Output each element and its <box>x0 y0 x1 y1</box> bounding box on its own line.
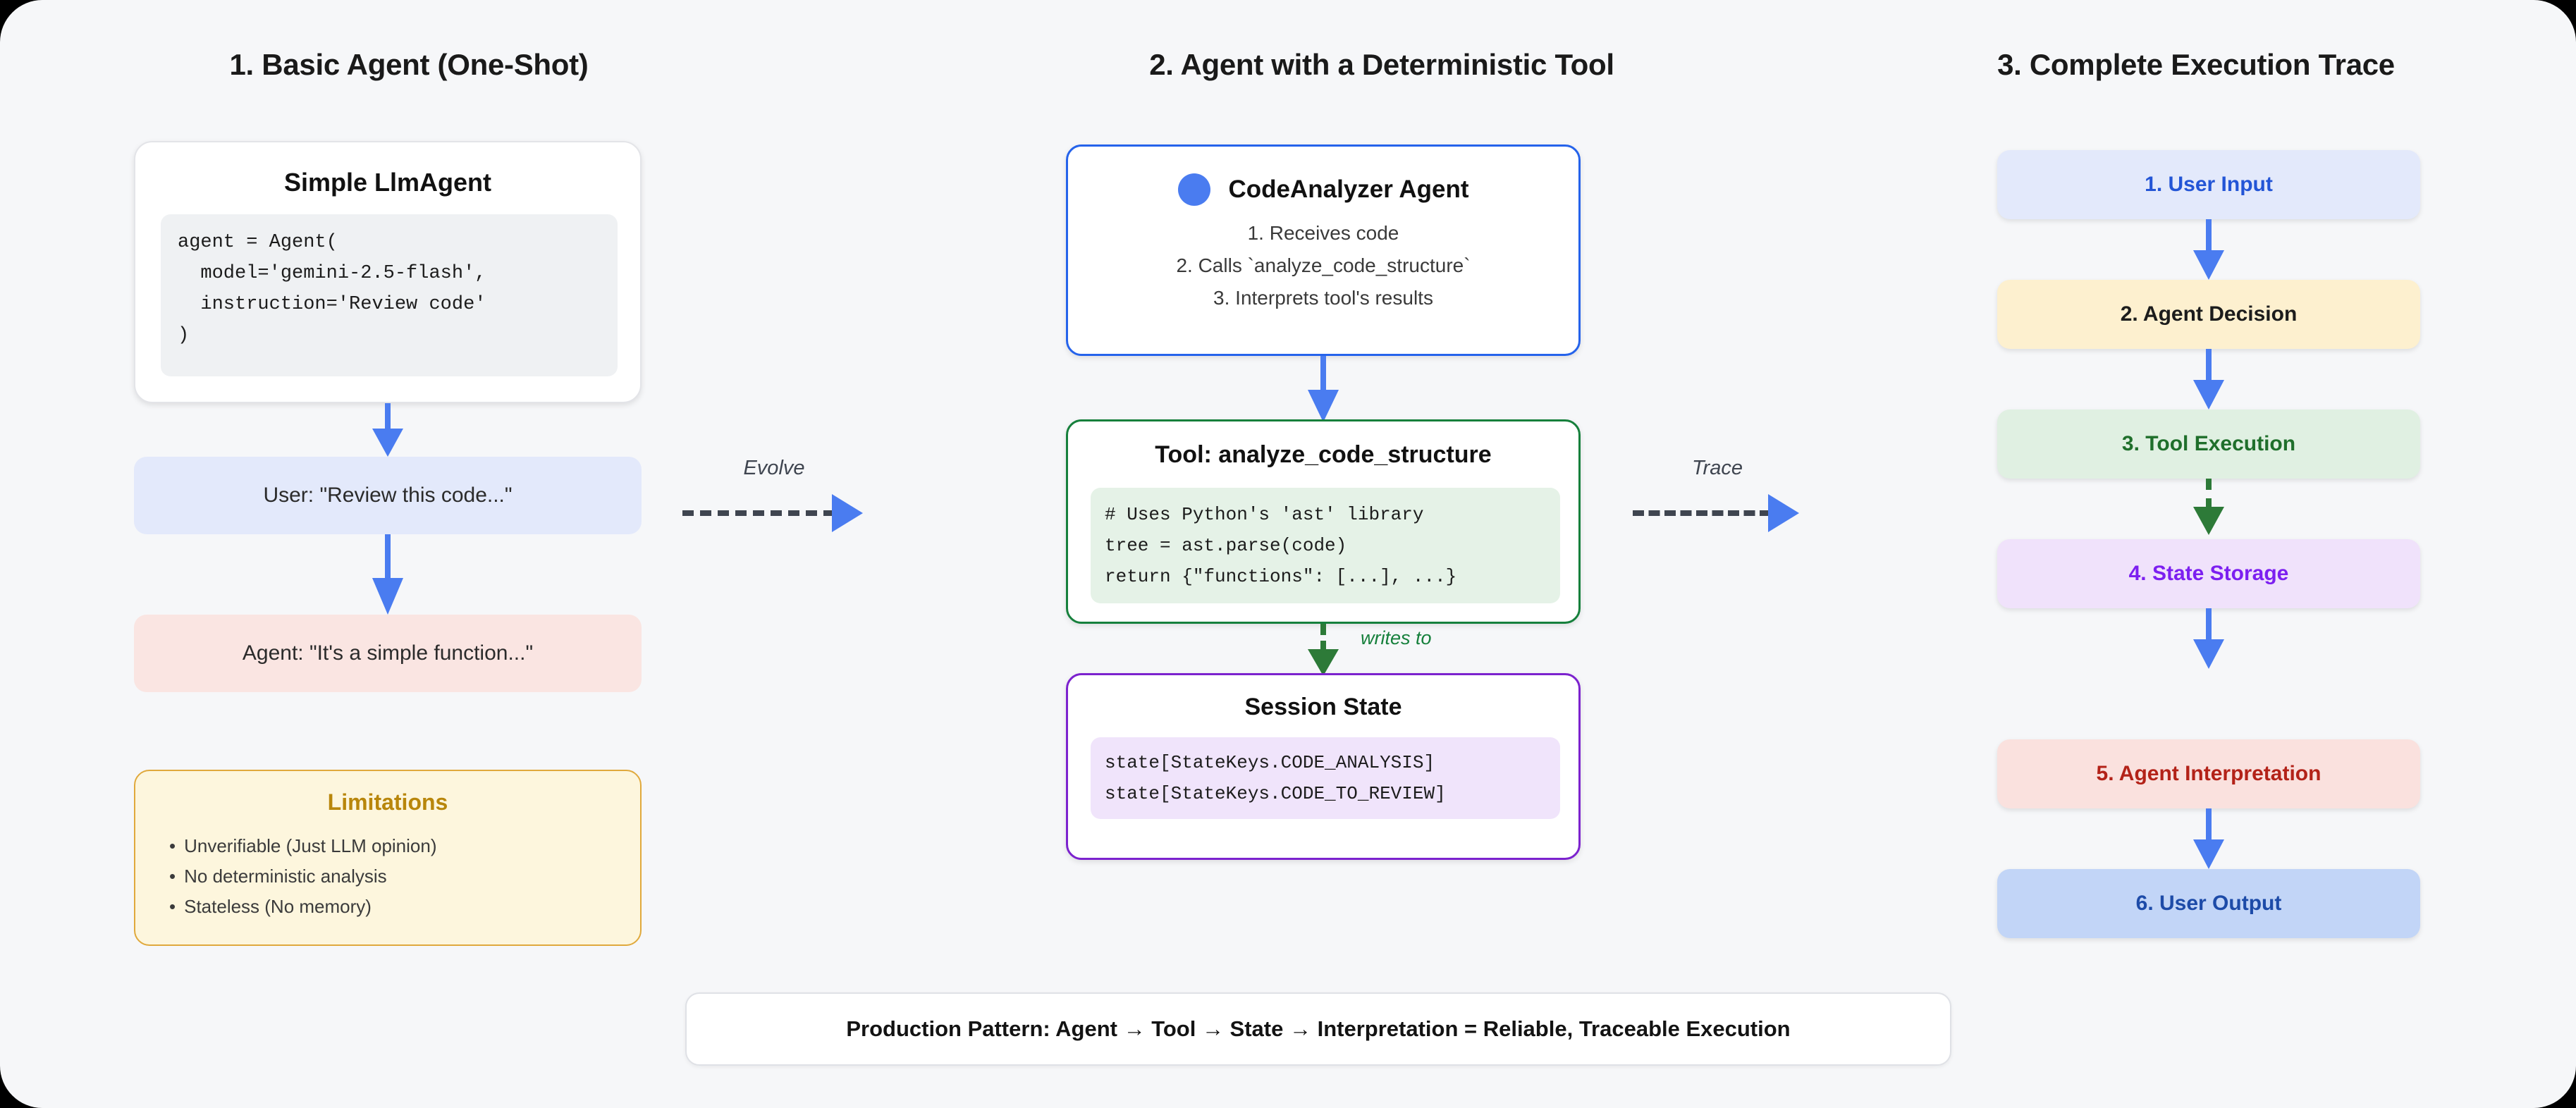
trace-step-label: 6. User Output <box>2136 892 2282 916</box>
arrow-tool-to-session-state <box>1288 624 1358 676</box>
tool-code-block: # Uses Python's 'ast' library tree = ast… <box>1091 488 1560 603</box>
trace-step-tool-execution: 3. Tool Execution <box>1997 410 2420 479</box>
session-state-code-block: state[StateKeys.CODE_ANALYSIS] state[Sta… <box>1091 737 1560 819</box>
column-title-basic-agent: 1. Basic Agent (One-Shot) <box>0 48 818 82</box>
arrow-user-to-agent-message <box>352 534 423 615</box>
arrow-agent-to-tool <box>1288 356 1358 421</box>
analyze-code-structure-tool-card: Tool: analyze_code_structure # Uses Pyth… <box>1066 419 1581 624</box>
evolve-label: Evolve <box>682 457 866 480</box>
session-state-card: Session State state[StateKeys.CODE_ANALY… <box>1066 673 1581 860</box>
trace-step-label: 3. Tool Execution <box>2122 432 2295 456</box>
trace-step-state-storage: 4. State Storage <box>1997 539 2420 608</box>
code-analyzer-step: 1. Receives code <box>1068 217 1578 250</box>
evolve-connector: Evolve <box>682 493 866 533</box>
trace-step-label: 5. Agent Interpretation <box>2097 762 2322 786</box>
code-analyzer-agent-title: CodeAnalyzer Agent <box>1229 176 1469 204</box>
trace-step-label: 4. State Storage <box>2129 562 2289 586</box>
user-message-box: User: "Review this code..." <box>134 457 642 534</box>
arrow-step2-to-step3 <box>2173 349 2244 410</box>
writes-to-label: writes to <box>1361 627 1432 649</box>
limitation-item: Stateless (No memory) <box>169 892 640 922</box>
arrow-agent-to-user-message <box>352 403 423 457</box>
arrow-step3-to-step4 <box>2173 479 2244 539</box>
limitation-item: Unverifiable (Just LLM opinion) <box>169 831 640 861</box>
trace-step-user-input: 1. User Input <box>1997 150 2420 219</box>
agent-message-text: Agent: "It's a simple function..." <box>243 641 533 665</box>
arrow-step5-to-step6 <box>2173 808 2244 869</box>
trace-label: Trace <box>1633 457 1802 480</box>
trace-connector: Trace <box>1633 493 1802 533</box>
simple-agent-code-block: agent = Agent( model='gemini-2.5-flash',… <box>161 214 618 376</box>
code-analyzer-step: 3. Interprets tool's results <box>1068 282 1578 314</box>
session-state-title: Session State <box>1068 694 1578 721</box>
simple-llm-agent-title: Simple LlmAgent <box>135 168 640 197</box>
trace-step-agent-decision: 2. Agent Decision <box>1997 280 2420 349</box>
diagram-canvas: 1. Basic Agent (One-Shot) 2. Agent with … <box>0 0 2576 1108</box>
user-message-text: User: "Review this code..." <box>263 484 512 507</box>
code-analyzer-step: 2. Calls `analyze_code_structure` <box>1068 250 1578 282</box>
trace-step-user-output: 6. User Output <box>1997 869 2420 938</box>
code-analyzer-agent-card: CodeAnalyzer Agent 1. Receives code 2. C… <box>1066 144 1581 356</box>
limitations-card: Limitations Unverifiable (Just LLM opini… <box>134 770 642 946</box>
agent-message-box: Agent: "It's a simple function..." <box>134 615 642 692</box>
limitations-list: Unverifiable (Just LLM opinion) No deter… <box>135 831 640 922</box>
trace-step-agent-interpretation: 5. Agent Interpretation <box>1997 739 2420 808</box>
column-title-deterministic-tool: 2. Agent with a Deterministic Tool <box>832 48 1932 82</box>
trace-step-label: 1. User Input <box>2145 173 2273 197</box>
limitation-item: No deterministic analysis <box>169 861 640 892</box>
simple-llm-agent-card: Simple LlmAgent agent = Agent( model='ge… <box>134 141 642 403</box>
limitations-title: Limitations <box>135 789 640 815</box>
column-title-execution-trace: 3. Complete Execution Trace <box>1925 48 2467 82</box>
code-analyzer-steps: 1. Receives code 2. Calls `analyze_code_… <box>1068 217 1578 314</box>
production-pattern-text: Production Pattern: Agent → Tool → State… <box>846 1016 1790 1042</box>
agent-dot-icon <box>1178 173 1210 206</box>
trace-step-label: 2. Agent Decision <box>2121 302 2298 326</box>
arrow-step1-to-step2 <box>2173 219 2244 280</box>
tool-card-title: Tool: analyze_code_structure <box>1068 441 1578 469</box>
arrow-step4-to-step5 <box>2173 608 2244 669</box>
production-pattern-bar: Production Pattern: Agent → Tool → State… <box>685 992 1951 1066</box>
